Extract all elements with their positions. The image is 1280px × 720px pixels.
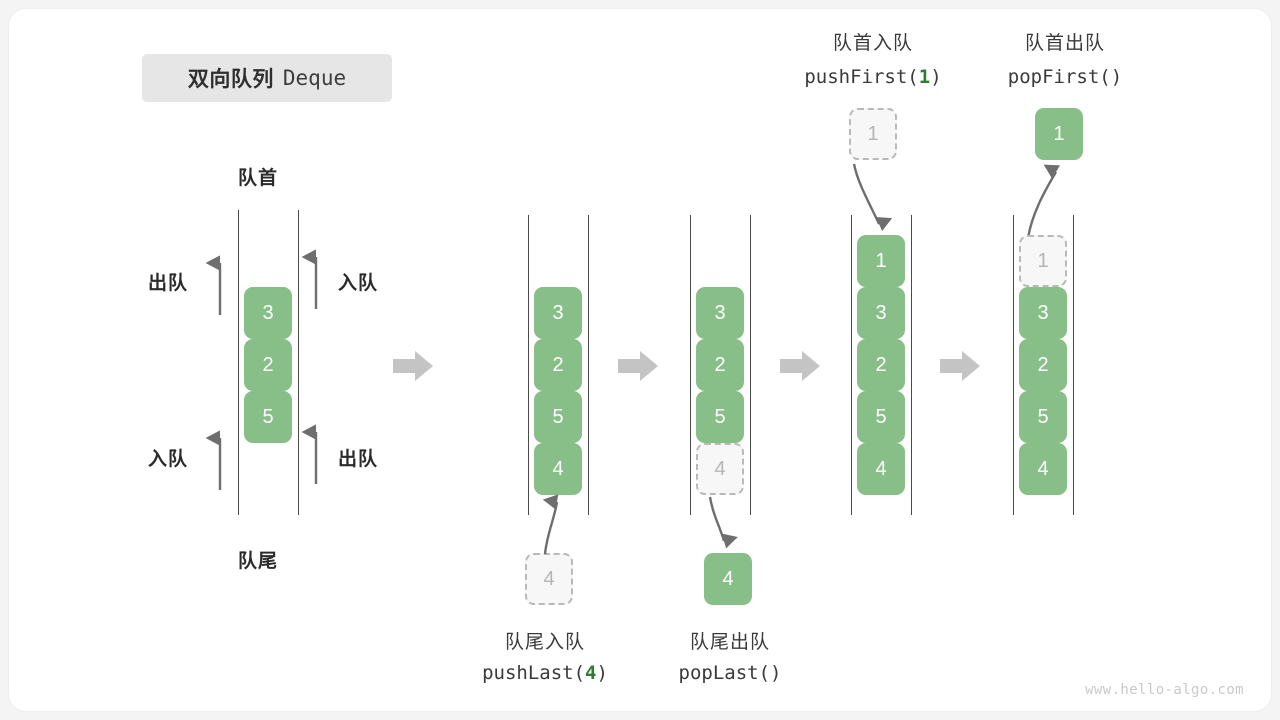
pop-last-arrow xyxy=(700,495,750,557)
title-badge: 双向队列 Deque xyxy=(142,54,392,102)
enqueue-up-arrow-bottom xyxy=(210,430,230,492)
queue-box: 3 xyxy=(244,287,292,339)
queue-box-new: 1 xyxy=(857,235,905,287)
queue-box: 3 xyxy=(534,287,582,339)
queue-box: 4 xyxy=(1019,443,1067,495)
queue-rail-left-5 xyxy=(1013,215,1014,515)
title-english: Deque xyxy=(283,66,346,90)
queue-box-removed: 1 xyxy=(1019,235,1067,287)
push-first-arrow xyxy=(846,162,896,240)
pop-first-caption-code: popFirst() xyxy=(970,66,1160,88)
queue-box: 3 xyxy=(1019,287,1067,339)
queue-box: 5 xyxy=(534,391,582,443)
queue-box: 2 xyxy=(534,339,582,391)
external-ghost-box: 1 xyxy=(849,108,897,160)
transition-arrow-icon xyxy=(393,349,433,383)
queue-box: 4 xyxy=(857,443,905,495)
front-label: 队首 xyxy=(238,163,278,190)
queue-rail-right-1 xyxy=(298,210,299,515)
right-top-enqueue-label: 入队 xyxy=(338,268,378,295)
external-popped-box: 1 xyxy=(1035,108,1083,160)
queue-box: 5 xyxy=(857,391,905,443)
queue-box: 2 xyxy=(857,339,905,391)
push-first-caption-cn: 队首入队 xyxy=(793,28,953,55)
external-popped-box: 4 xyxy=(704,553,752,605)
transition-arrow-icon xyxy=(780,349,820,383)
left-bottom-enqueue-label: 入队 xyxy=(148,444,188,471)
queue-box-new: 4 xyxy=(534,443,582,495)
queue-rail-right-3 xyxy=(750,215,751,515)
push-last-arrow xyxy=(530,490,574,560)
queue-box: 3 xyxy=(857,287,905,339)
queue-rail-right-2 xyxy=(588,215,589,515)
transition-arrow-icon xyxy=(940,349,980,383)
pop-last-caption-code: popLast() xyxy=(635,662,825,684)
left-top-dequeue-label: 出队 xyxy=(148,268,188,295)
queue-box: 3 xyxy=(696,287,744,339)
push-first-caption-code: pushFirst(1) xyxy=(773,66,973,88)
diagram-canvas: 双向队列 Deque 队首 队尾 3 2 5 出队 入队 入队 出队 xyxy=(0,0,1280,720)
queue-box: 5 xyxy=(1019,391,1067,443)
title-chinese: 双向队列 xyxy=(188,63,274,93)
transition-arrow-icon xyxy=(618,349,658,383)
enqueue-down-arrow-top xyxy=(306,255,326,317)
queue-box: 2 xyxy=(1019,339,1067,391)
queue-rail-left-2 xyxy=(528,215,529,515)
pop-last-caption-cn: 队尾出队 xyxy=(650,627,810,654)
queue-box: 5 xyxy=(696,391,744,443)
rear-label: 队尾 xyxy=(238,546,278,573)
right-bottom-dequeue-label: 出队 xyxy=(338,444,378,471)
queue-rail-left-4 xyxy=(851,215,852,515)
queue-rail-right-5 xyxy=(1073,215,1074,515)
queue-rail-left-1 xyxy=(238,210,239,515)
push-last-caption-cn: 队尾入队 xyxy=(465,627,625,654)
queue-box: 2 xyxy=(696,339,744,391)
watermark: www.hello-algo.com xyxy=(1085,682,1244,698)
dequeue-down-arrow-bottom xyxy=(306,430,326,492)
queue-box: 5 xyxy=(244,391,292,443)
queue-box-removed: 4 xyxy=(696,443,744,495)
queue-rail-right-4 xyxy=(911,215,912,515)
pop-first-caption-cn: 队首出队 xyxy=(985,28,1145,55)
push-last-caption-code: pushLast(4) xyxy=(445,662,645,684)
pop-first-arrow xyxy=(1014,160,1070,242)
external-ghost-box: 4 xyxy=(525,553,573,605)
dequeue-up-arrow-top xyxy=(210,255,230,317)
queue-rail-left-3 xyxy=(690,215,691,515)
queue-box: 2 xyxy=(244,339,292,391)
